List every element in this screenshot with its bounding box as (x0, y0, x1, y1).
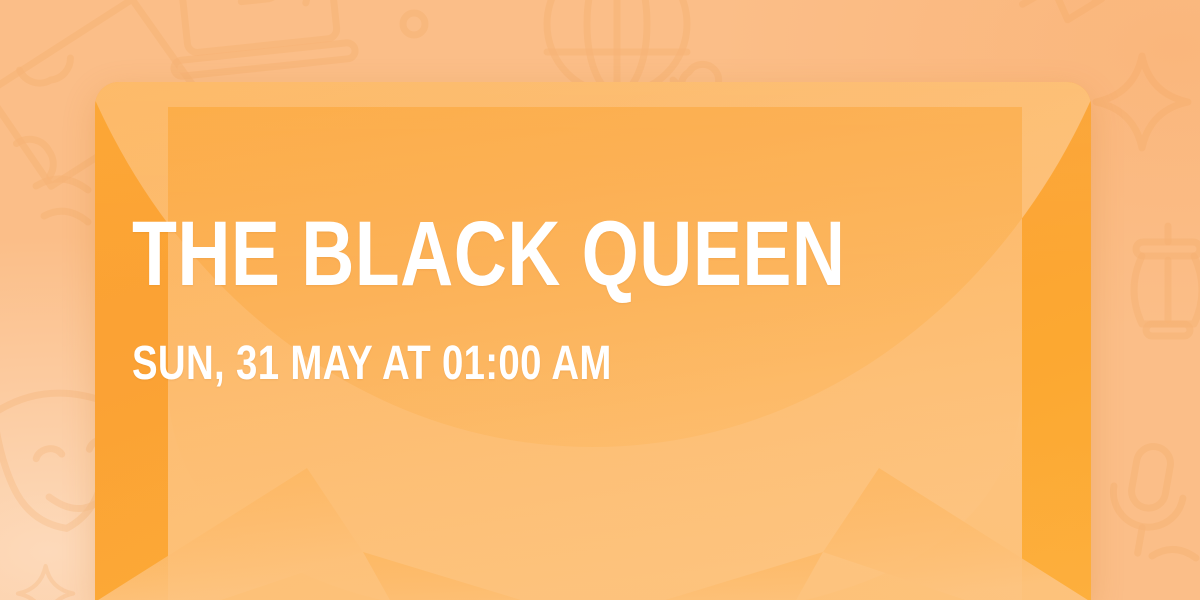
confetti-icon (1152, 549, 1196, 558)
microphone-icon (1103, 441, 1191, 560)
event-card[interactable]: THE BLACK QUEEN SUN, 31 MAY AT 01:00 AM (95, 82, 1091, 600)
card-content: THE BLACK QUEEN SUN, 31 MAY AT 01:00 AM (132, 82, 1032, 600)
page-title: THE BLACK QUEEN (132, 208, 845, 300)
lantern-icon (1134, 226, 1200, 336)
confetti-icon (36, 179, 88, 222)
event-datetime: SUN, 31 MAY AT 01:00 AM (132, 340, 612, 388)
flag-icon (1012, 0, 1174, 29)
sparkle-icon (18, 566, 73, 600)
laptop-icon (162, 0, 356, 77)
sparkle-icon (1096, 56, 1188, 148)
confetti-icon (403, 13, 425, 35)
event-banner: THE BLACK QUEEN SUN, 31 MAY AT 01:00 AM (0, 0, 1200, 600)
